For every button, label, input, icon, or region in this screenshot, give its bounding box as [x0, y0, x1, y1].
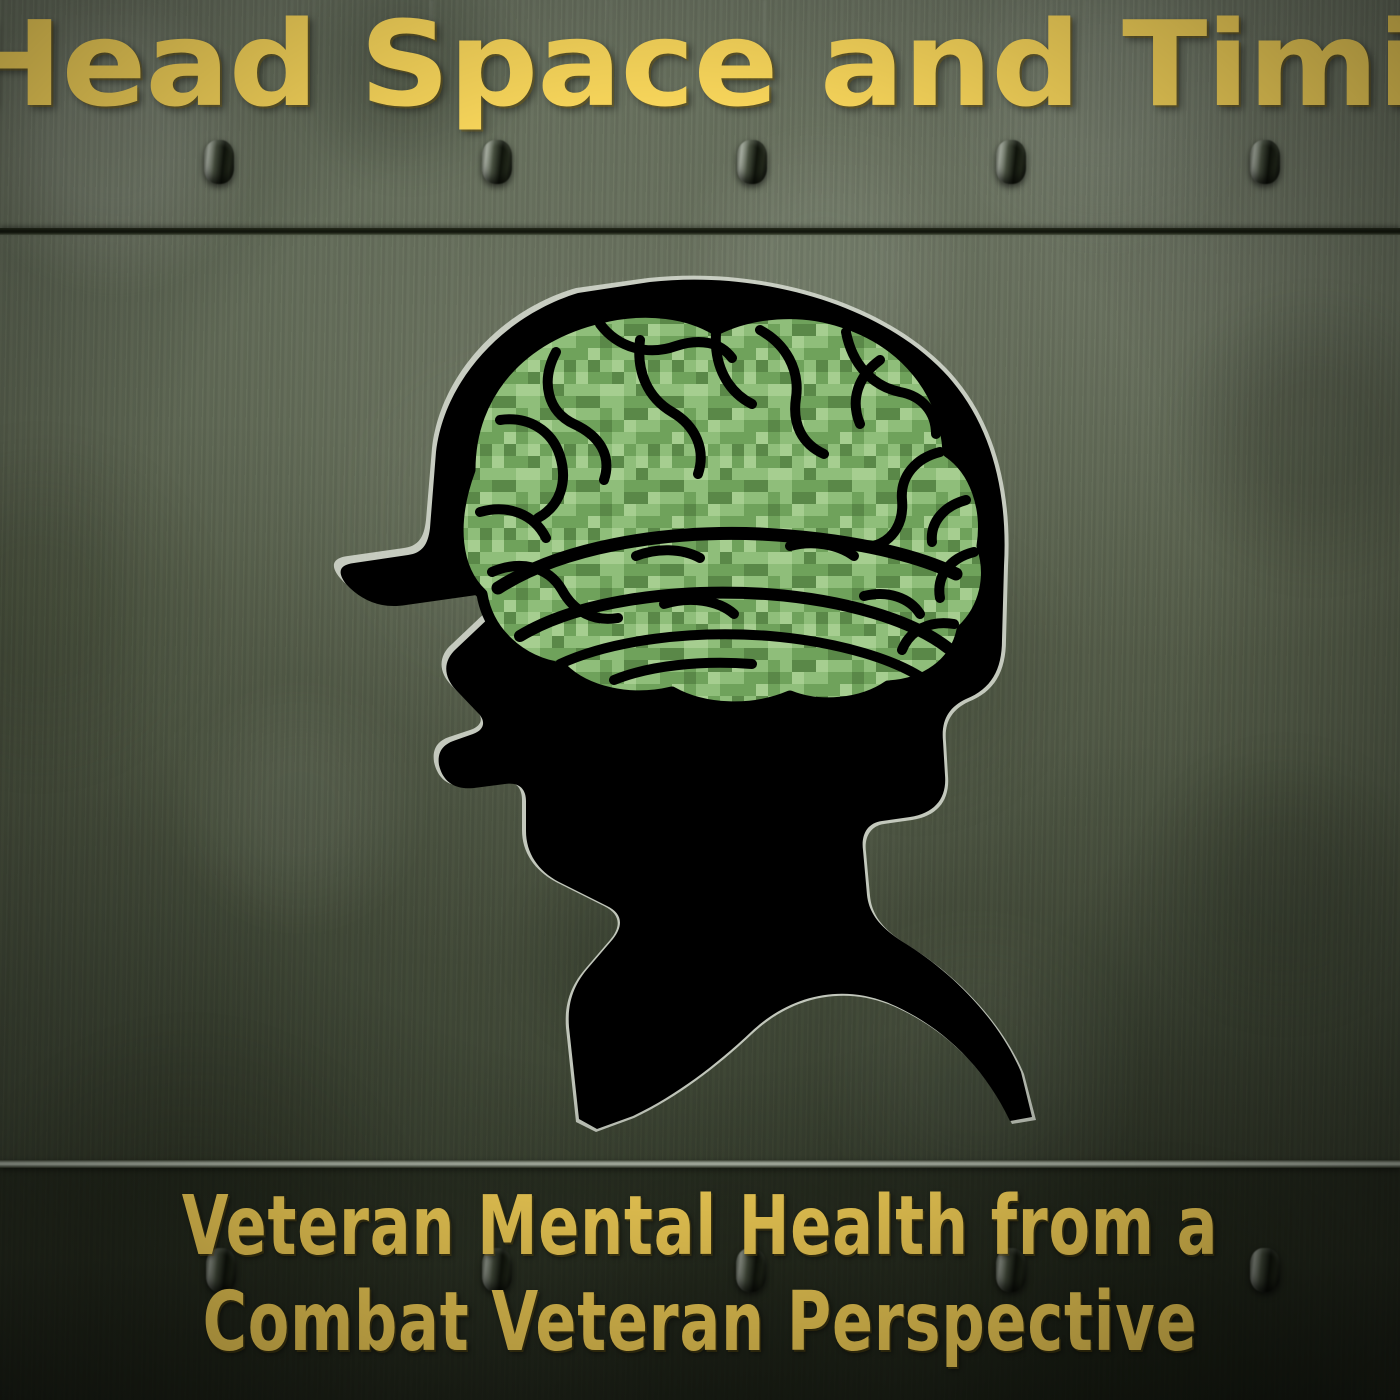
- subtitle-line-2: Combat Veteran Perspective: [126, 1282, 1274, 1364]
- bottom-seam-divider: [0, 1160, 1400, 1168]
- podcast-cover-art: Head Space and Timing Veteran Mental Hea…: [0, 0, 1400, 1400]
- page-title: Head Space and Timing: [0, 5, 1400, 123]
- top-seam-divider: [0, 228, 1400, 235]
- rivet-top-5: [1250, 140, 1280, 184]
- rivet-top-3: [737, 140, 767, 184]
- rivet-top-1: [204, 140, 234, 184]
- title-area: Head Space and Timing: [0, 0, 1400, 226]
- rivet-top-4: [996, 140, 1026, 184]
- subtitle-line-1: Veteran Mental Health from a: [126, 1186, 1274, 1268]
- rivet-top-2: [482, 140, 512, 184]
